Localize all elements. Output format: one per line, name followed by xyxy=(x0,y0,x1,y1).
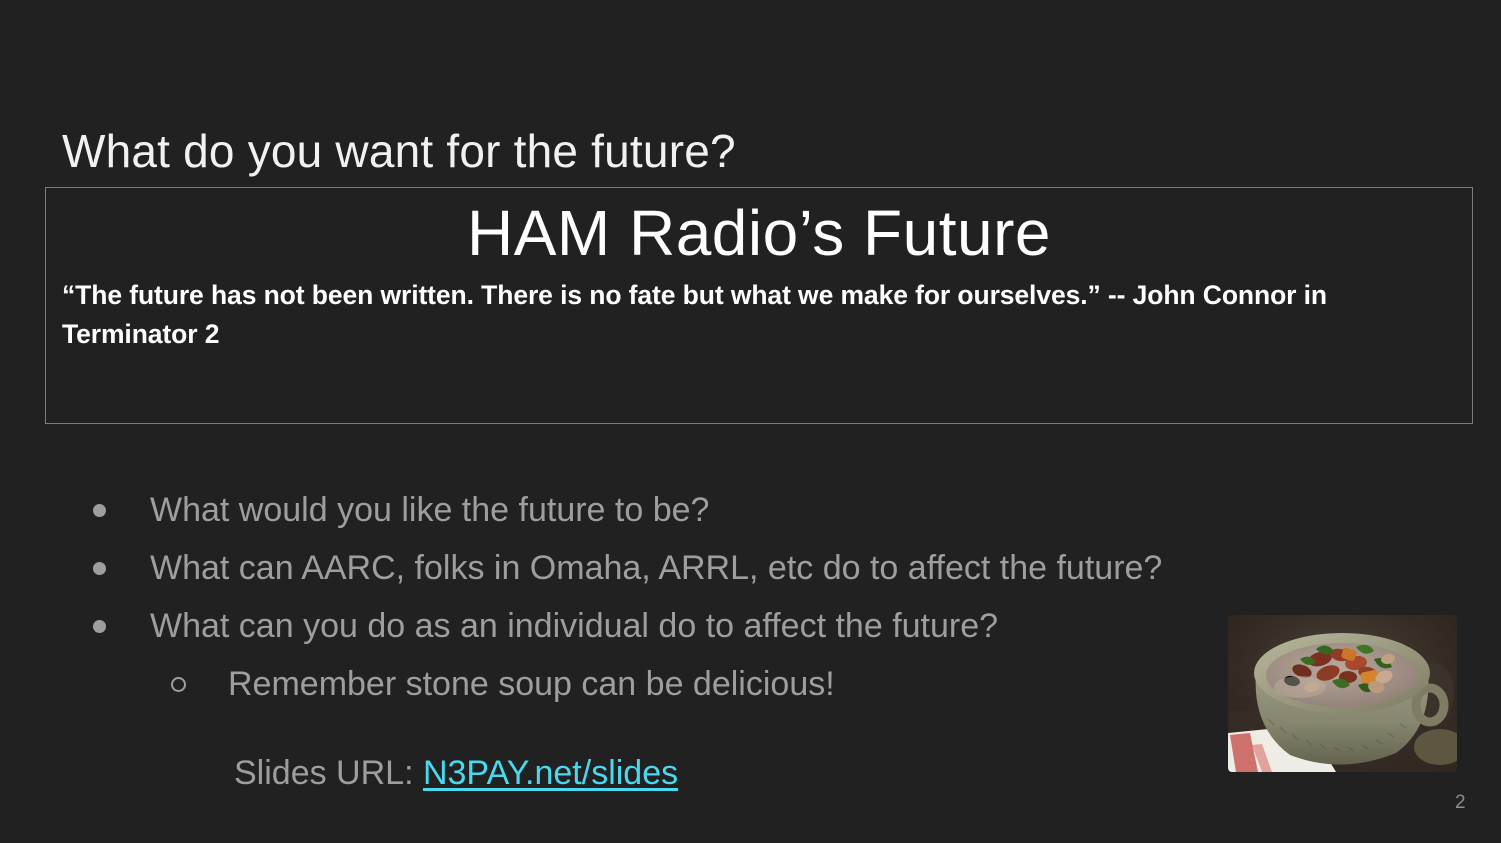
slides-url-line: Slides URL: N3PAY.net/slides xyxy=(234,750,678,796)
page-number: 2 xyxy=(1455,791,1466,815)
list-item: What can you do as an individual do to a… xyxy=(88,597,1428,655)
bullet-disc-icon xyxy=(88,597,150,655)
list-item: What would you like the future to be? xyxy=(88,481,1428,539)
presentation-slide: What do you want for the future? HAM Rad… xyxy=(0,0,1501,843)
box-heading: HAM Radio’s Future xyxy=(46,188,1472,270)
slides-url-label: Slides URL: xyxy=(234,754,423,792)
list-item-label: What would you like the future to be? xyxy=(150,481,1428,539)
bullet-circle-icon xyxy=(166,655,228,713)
page-title: What do you want for the future? xyxy=(62,123,736,179)
bullet-disc-icon xyxy=(88,539,150,597)
sub-list-item: Remember stone soup can be delicious! xyxy=(88,655,1428,713)
list-item: What can AARC, folks in Omaha, ARRL, etc… xyxy=(88,539,1428,597)
slides-url-link[interactable]: N3PAY.net/slides xyxy=(423,754,678,792)
soup-photo xyxy=(1228,615,1457,772)
bullet-disc-icon xyxy=(88,481,150,539)
list-item-label: What can AARC, folks in Omaha, ARRL, etc… xyxy=(150,539,1428,597)
bullet-list: What would you like the future to be? Wh… xyxy=(88,481,1428,713)
box-quote-text: “The future has not been written. There … xyxy=(46,270,1472,354)
quote-box: HAM Radio’s Future “The future has not b… xyxy=(45,187,1473,424)
